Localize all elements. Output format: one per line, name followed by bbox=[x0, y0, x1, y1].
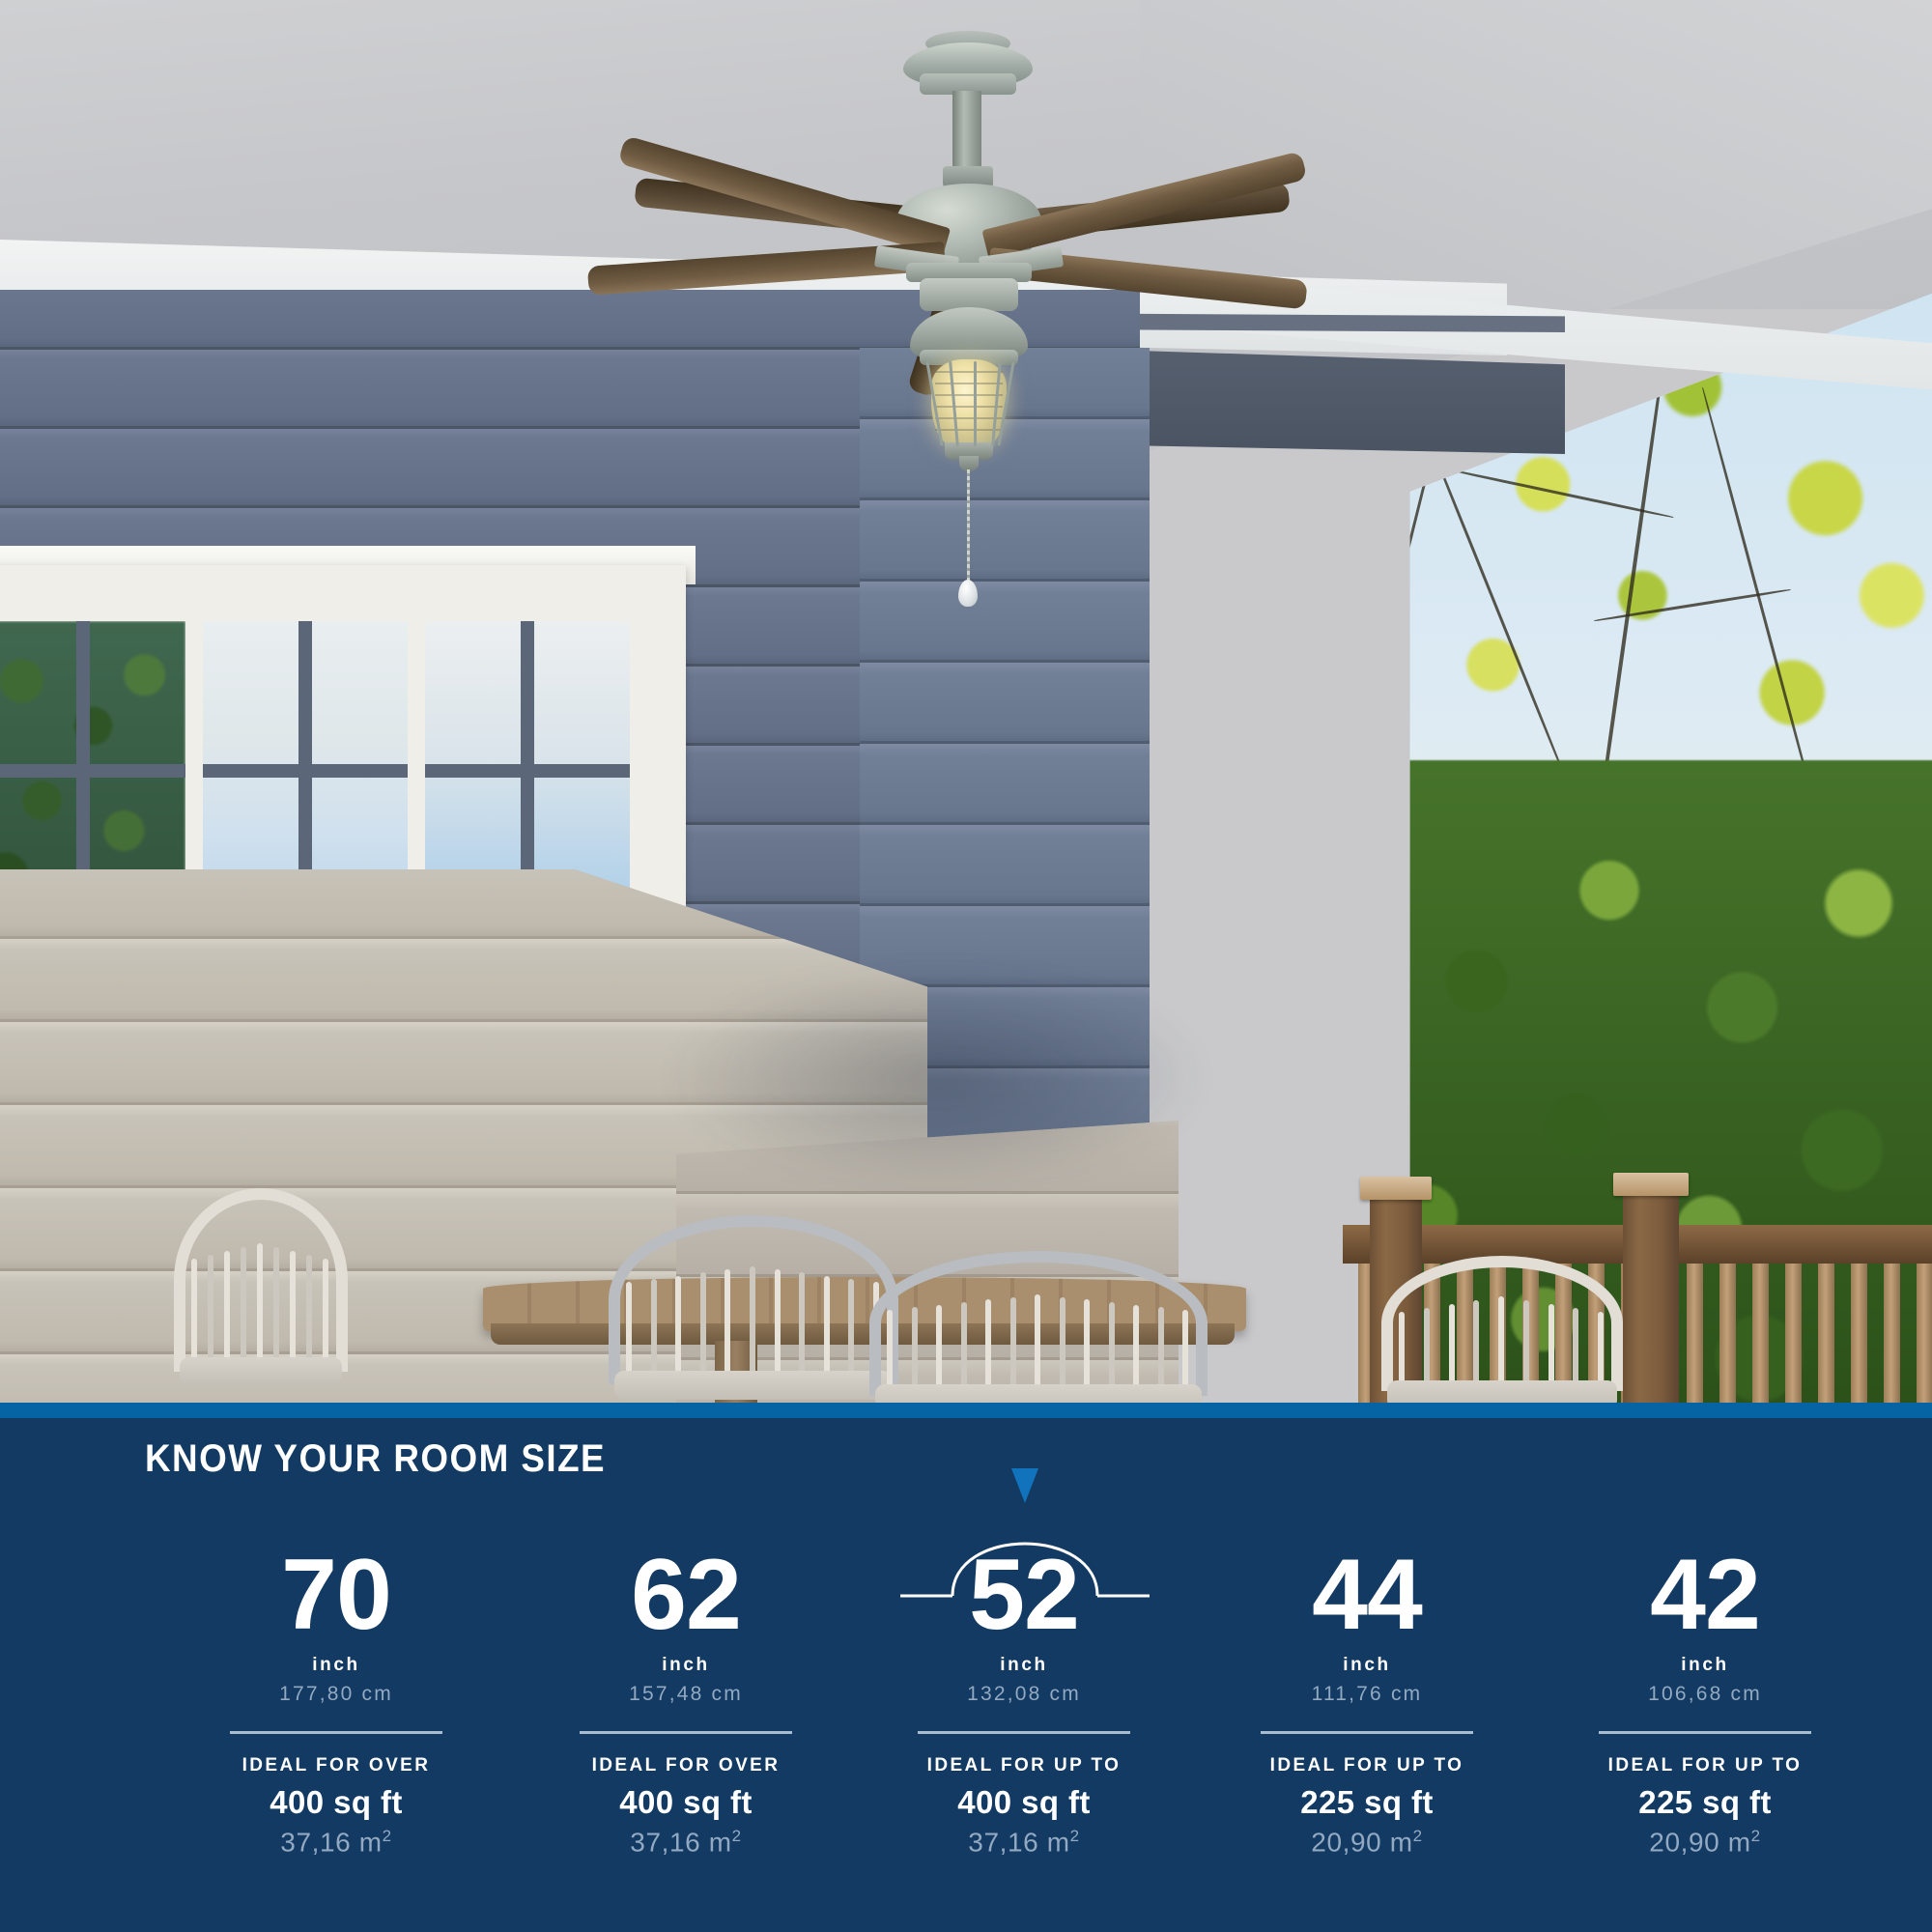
wicker-chair-right bbox=[1381, 1256, 1662, 1403]
size-column-42[interactable]: 42inch106,68 cmIDEAL FOR UP TO225 sq ft2… bbox=[1541, 1548, 1869, 1858]
globe-rib bbox=[935, 406, 1003, 408]
size-cm-label: 111,76 cm bbox=[1203, 1683, 1531, 1706]
ideal-for-label: IDEAL FOR UP TO bbox=[1203, 1755, 1531, 1776]
size-unit-label: inch bbox=[860, 1655, 1188, 1676]
ideal-area-m2: 37,16 m2 bbox=[172, 1827, 500, 1858]
siding-lap bbox=[860, 744, 1150, 825]
ideal-for-label: IDEAL FOR UP TO bbox=[860, 1755, 1188, 1776]
fan-wall-shadow bbox=[667, 966, 1207, 1188]
column-divider bbox=[1261, 1731, 1473, 1734]
ideal-area-m2: 20,90 m2 bbox=[1541, 1827, 1869, 1858]
chair-seat bbox=[180, 1357, 342, 1386]
railing-baluster bbox=[1785, 1264, 1802, 1403]
ideal-for-label: IDEAL FOR OVER bbox=[522, 1755, 850, 1776]
fan-pull-chain bbox=[967, 469, 970, 583]
ideal-area-m2: 37,16 m2 bbox=[860, 1827, 1188, 1858]
window-mullion bbox=[203, 764, 408, 778]
size-column-52[interactable]: 52inch132,08 cmIDEAL FOR UP TO400 sq ft3… bbox=[860, 1548, 1188, 1858]
size-number: 52 bbox=[860, 1548, 1188, 1643]
railing-baluster bbox=[1917, 1264, 1932, 1403]
porch-hero-photo bbox=[0, 0, 1932, 1403]
product-size-guide-page: KNOW YOUR ROOM SIZE 70inch177,80 cmIDEAL… bbox=[0, 0, 1932, 1932]
wicker-chair-center-front bbox=[869, 1251, 1236, 1403]
siding-lap bbox=[860, 663, 1150, 744]
ideal-area-m2: 37,16 m2 bbox=[522, 1827, 850, 1858]
size-number: 42 bbox=[1541, 1548, 1869, 1643]
chair-seat bbox=[614, 1371, 893, 1400]
railing-baluster bbox=[1884, 1264, 1900, 1403]
size-unit-label: inch bbox=[1541, 1655, 1869, 1676]
ideal-for-label: IDEAL FOR OVER bbox=[172, 1755, 500, 1776]
railing-post-cap bbox=[1360, 1177, 1432, 1200]
globe-rib bbox=[935, 417, 1003, 419]
ceiling-fan bbox=[667, 10, 1265, 609]
globe-rib bbox=[935, 383, 1003, 384]
railing-post-cap bbox=[1613, 1173, 1689, 1196]
ideal-area-sqft: 225 sq ft bbox=[1203, 1784, 1531, 1821]
size-column-44[interactable]: 44inch111,76 cmIDEAL FOR UP TO225 sq ft2… bbox=[1203, 1548, 1531, 1858]
globe-rib bbox=[935, 371, 1003, 373]
size-number: 70 bbox=[172, 1548, 500, 1643]
fan-pull-chain-knob bbox=[958, 580, 978, 607]
banner-accent-stripe bbox=[0, 1403, 1932, 1418]
size-column-70[interactable]: 70inch177,80 cmIDEAL FOR OVER400 sq ft37… bbox=[172, 1548, 500, 1858]
size-cm-label: 106,68 cm bbox=[1541, 1683, 1869, 1706]
size-number: 44 bbox=[1203, 1548, 1531, 1643]
size-cm-label: 132,08 cm bbox=[860, 1683, 1188, 1706]
column-divider bbox=[230, 1731, 442, 1734]
siding-lap bbox=[860, 825, 1150, 906]
railing-baluster bbox=[1851, 1264, 1867, 1403]
column-divider bbox=[580, 1731, 792, 1734]
chair-seat bbox=[1387, 1380, 1617, 1403]
globe-rib bbox=[935, 394, 1003, 396]
ideal-area-sqft: 400 sq ft bbox=[522, 1784, 850, 1821]
ideal-area-m2: 20,90 m2 bbox=[1203, 1827, 1531, 1858]
railing-baluster bbox=[1687, 1264, 1703, 1403]
railing-baluster bbox=[1719, 1264, 1736, 1403]
size-cm-label: 177,80 cm bbox=[172, 1683, 500, 1706]
column-divider bbox=[918, 1731, 1130, 1734]
room-size-banner: KNOW YOUR ROOM SIZE 70inch177,80 cmIDEAL… bbox=[0, 1403, 1932, 1932]
size-column-62[interactable]: 62inch157,48 cmIDEAL FOR OVER400 sq ft37… bbox=[522, 1548, 850, 1858]
wicker-chair-left bbox=[174, 1188, 464, 1403]
railing-baluster bbox=[1818, 1264, 1834, 1403]
size-columns: 70inch177,80 cmIDEAL FOR OVER400 sq ft37… bbox=[0, 1548, 1932, 1915]
railing-baluster bbox=[1752, 1264, 1769, 1403]
window-mullion bbox=[425, 764, 630, 778]
chair-seat bbox=[875, 1384, 1202, 1403]
ideal-for-label: IDEAL FOR UP TO bbox=[1541, 1755, 1869, 1776]
banner-title: KNOW YOUR ROOM SIZE bbox=[145, 1437, 606, 1481]
fan-downrod bbox=[952, 91, 981, 172]
ideal-area-sqft: 225 sq ft bbox=[1541, 1784, 1869, 1821]
size-unit-label: inch bbox=[522, 1655, 850, 1676]
light-cage-bar bbox=[974, 361, 977, 446]
ideal-area-sqft: 400 sq ft bbox=[172, 1784, 500, 1821]
column-divider bbox=[1599, 1731, 1811, 1734]
selected-size-pointer bbox=[1011, 1468, 1038, 1503]
size-unit-label: inch bbox=[172, 1655, 500, 1676]
size-number: 62 bbox=[522, 1548, 850, 1643]
fan-switch-housing bbox=[920, 278, 1018, 311]
ideal-area-sqft: 400 sq ft bbox=[860, 1784, 1188, 1821]
size-unit-label: inch bbox=[1203, 1655, 1531, 1676]
size-cm-label: 157,48 cm bbox=[522, 1683, 850, 1706]
window-mullion bbox=[0, 764, 185, 778]
